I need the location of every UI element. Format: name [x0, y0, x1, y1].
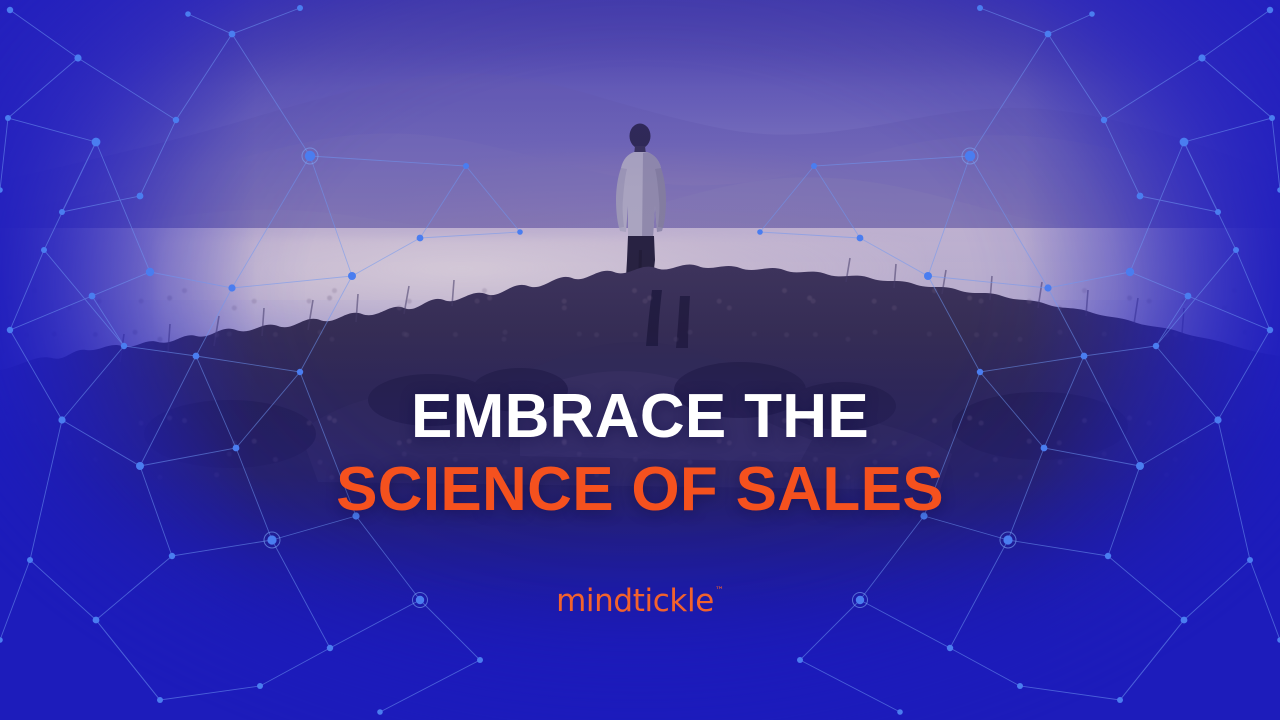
- brand-logo-wrapper: mindtickle ™: [0, 586, 1280, 617]
- slide-content: EMBRACE THE SCIENCE OF SALES mindtickle …: [0, 0, 1280, 720]
- logo-wordmark: mindtickle: [556, 586, 714, 617]
- headline-block: EMBRACE THE SCIENCE OF SALES: [0, 386, 1280, 521]
- mindtickle-logo: mindtickle ™: [556, 586, 724, 617]
- headline-line-1: EMBRACE THE: [0, 386, 1280, 448]
- headline-line-2: SCIENCE OF SALES: [0, 459, 1280, 521]
- trademark-symbol: ™: [715, 587, 724, 596]
- slide-canvas: EMBRACE THE SCIENCE OF SALES mindtickle …: [0, 0, 1280, 720]
